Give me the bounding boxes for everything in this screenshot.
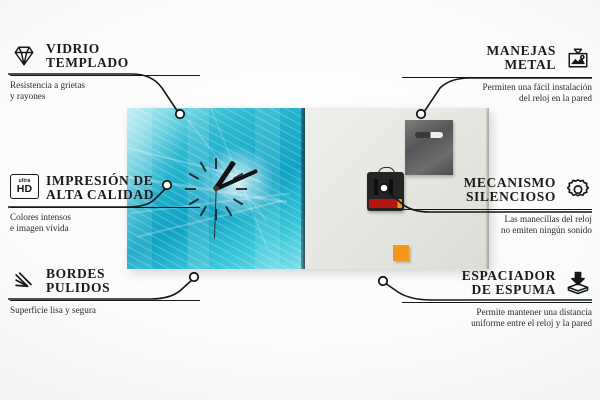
feature-header: VIDRIO TEMPLADO (10, 40, 200, 72)
feature-divider (402, 209, 592, 210)
hd-label: HD (17, 184, 33, 195)
feature-desc-line1: Colores intensos (10, 212, 71, 222)
feature-manejas-metal: MANEJAS METAL Permiten una fácil instala… (402, 42, 592, 104)
feature-header: MECANISMO SILENCIOSO (402, 174, 592, 206)
connector-dot-mecanismo (380, 184, 388, 192)
feature-header: ESPACIADOR DE ESPUMA (402, 267, 592, 299)
feature-desc-line2: del reloj en la pared (519, 93, 592, 103)
feature-espaciador-espuma: ESPACIADOR DE ESPUMA Permite mantener un… (402, 267, 592, 329)
product-feature-infographic: VIDRIO TEMPLADO Resistencia a grietas y … (0, 0, 600, 400)
connector-dot-vidrio (176, 110, 184, 118)
feature-mecanismo-silencioso: MECANISMO SILENCIOSO Las manecillas del … (402, 174, 592, 236)
feature-description: Permiten una fácil instalación del reloj… (402, 82, 592, 104)
feature-desc-line2: uniforme entre el reloj y la pared (471, 318, 592, 328)
connector-dot-manejas (417, 110, 425, 118)
feature-title-line1: ESPACIADOR (462, 268, 556, 283)
feature-impresion-alta-calidad: ultra HD IMPRESIÓN DE ALTA CALIDAD Color… (10, 172, 200, 234)
feature-title-line1: MANEJAS (487, 43, 556, 58)
feature-title-line2: ALTA CALIDAD (46, 187, 154, 202)
feature-desc-line1: Resistencia a grietas (10, 80, 85, 90)
feature-title: ESPACIADOR DE ESPUMA (462, 269, 556, 297)
feature-divider (10, 300, 200, 301)
feature-title-line2: DE ESPUMA (471, 282, 556, 297)
feature-title-line1: MECANISMO (464, 175, 556, 190)
feature-desc-line1: Permite mantener una distancia (476, 307, 592, 317)
feature-title: IMPRESIÓN DE ALTA CALIDAD (46, 174, 154, 202)
feature-divider (10, 75, 200, 76)
picture-frame-hanging-icon (564, 44, 592, 72)
feature-title-line2: TEMPLADO (46, 55, 129, 70)
feature-title: MECANISMO SILENCIOSO (464, 176, 556, 204)
feature-bordes-pulidos: BORDES PULIDOS Superficie lisa y segura (10, 265, 200, 316)
feature-divider (402, 302, 592, 303)
feature-header: ultra HD IMPRESIÓN DE ALTA CALIDAD (10, 172, 200, 204)
feature-title-line1: VIDRIO (46, 41, 100, 56)
feature-desc-line2: no emiten ningún sonido (501, 225, 592, 235)
feature-title-line2: METAL (504, 57, 556, 72)
diamond-icon (10, 42, 38, 70)
feature-header: BORDES PULIDOS (10, 265, 200, 297)
feature-divider (10, 207, 200, 208)
feature-description: Colores intensos e imagen vívida (10, 212, 200, 234)
feature-title-line2: PULIDOS (46, 280, 110, 295)
feature-desc-line2: y rayones (10, 91, 45, 101)
feature-header: MANEJAS METAL (402, 42, 592, 74)
feature-title-line1: IMPRESIÓN DE (46, 173, 153, 188)
feature-title: BORDES PULIDOS (46, 267, 110, 295)
feature-desc-line1: Superficie lisa y segura (10, 305, 96, 315)
feature-title-line2: SILENCIOSO (466, 189, 556, 204)
feature-description: Superficie lisa y segura (10, 305, 200, 316)
feature-title-line1: BORDES (46, 266, 105, 281)
gear-icon (564, 176, 592, 204)
feature-description: Resistencia a grietas y rayones (10, 80, 200, 102)
feature-title: VIDRIO TEMPLADO (46, 42, 129, 70)
feature-vidrio-templado: VIDRIO TEMPLADO Resistencia a grietas y … (10, 40, 200, 102)
feature-description: Permite mantener una distancia uniforme … (402, 307, 592, 329)
connector-dot-espaciador (379, 277, 387, 285)
feature-divider (402, 77, 592, 78)
feature-desc-line2: e imagen vívida (10, 223, 69, 233)
ultra-hd-icon: ultra HD (10, 174, 38, 202)
feature-desc-line1: Las manecillas del reloj (504, 214, 592, 224)
feature-description: Las manecillas del reloj no emiten ningú… (402, 214, 592, 236)
foam-spacer-arrow-icon (564, 269, 592, 297)
feature-desc-line1: Permiten una fácil instalación (483, 82, 592, 92)
polished-edges-icon (10, 267, 38, 295)
feature-title: MANEJAS METAL (487, 44, 556, 72)
